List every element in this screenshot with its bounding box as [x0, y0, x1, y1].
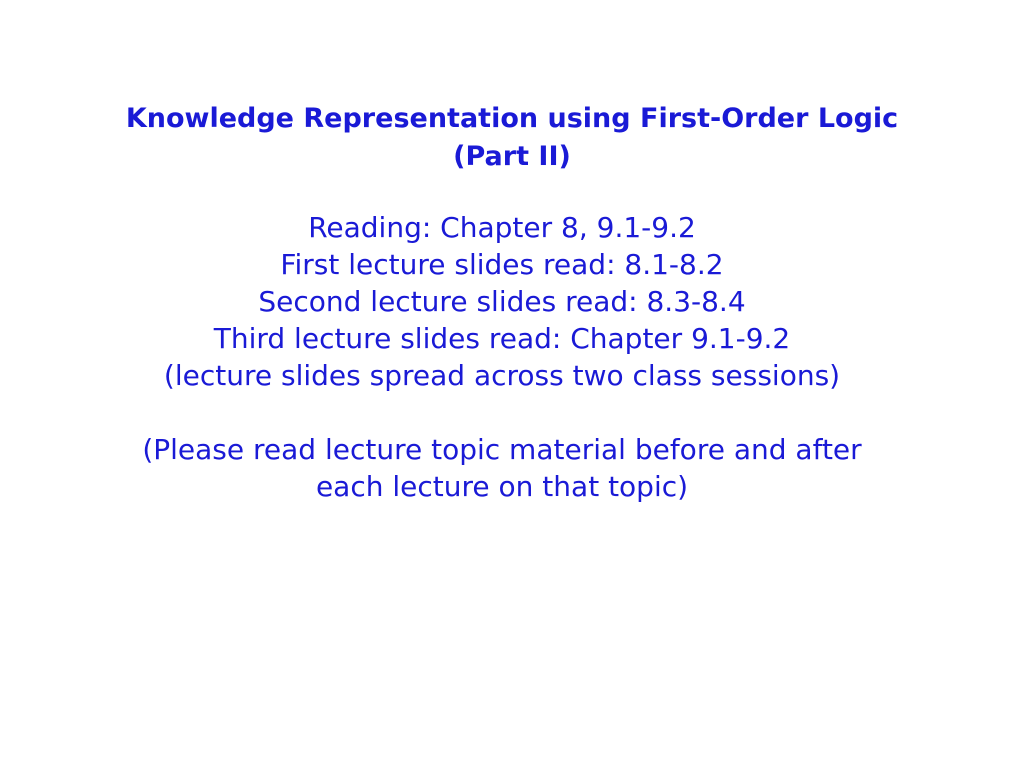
- slide-title: Knowledge Representation using First-Ord…: [62, 100, 962, 176]
- slide-title-line-2: (Part II): [62, 138, 962, 176]
- blank-spacer-line: [52, 394, 952, 431]
- second-lecture-reading-line: Second lecture slides read: 8.3-8.4: [52, 283, 952, 320]
- lecture-spread-note-line: (lecture slides spread across two class …: [52, 357, 952, 394]
- reading-instruction-note: (Please read lecture topic material befo…: [122, 431, 882, 505]
- slide-body: Reading: Chapter 8, 9.1-9.2 First lectur…: [52, 209, 952, 505]
- reading-assignment-line: Reading: Chapter 8, 9.1-9.2: [52, 209, 952, 246]
- third-lecture-reading-line: Third lecture slides read: Chapter 9.1-9…: [52, 320, 952, 357]
- slide-title-line-1: Knowledge Representation using First-Ord…: [62, 100, 962, 138]
- presentation-slide: Knowledge Representation using First-Ord…: [0, 0, 1024, 768]
- first-lecture-reading-line: First lecture slides read: 8.1-8.2: [52, 246, 952, 283]
